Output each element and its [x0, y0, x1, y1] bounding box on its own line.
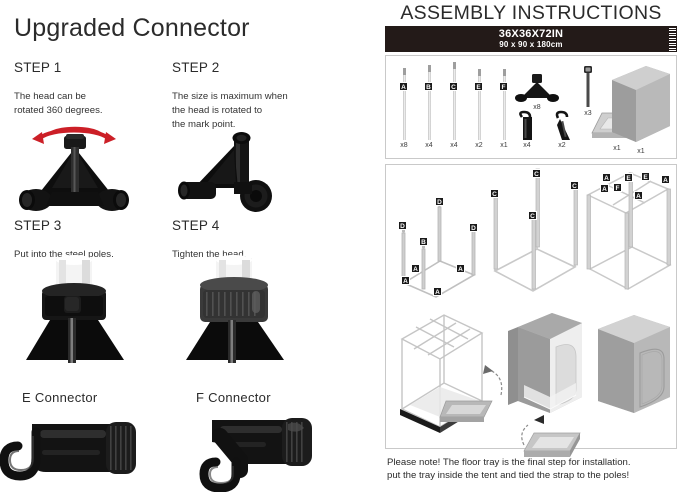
step-3-heading: STEP 3: [14, 218, 61, 233]
part-qty-a: x8: [395, 142, 413, 149]
step-1-description: The head can be rotated 360 degrees.: [14, 90, 164, 118]
part-qty-b: x4: [420, 142, 438, 149]
assembly-finished-tent: [594, 313, 674, 431]
left-panel: Upgraded Connector STEP 1 The head can b…: [0, 0, 370, 492]
part-badge-e: E: [474, 82, 483, 91]
pole-tightened-icon: [172, 258, 297, 363]
pole-inserted-icon: [12, 258, 137, 363]
size-imperial: 36X36X72IN: [499, 29, 563, 40]
frame-label-b: B: [419, 237, 428, 246]
tri-connector-front-icon: [12, 122, 137, 217]
part-tent-cover: x1: [610, 64, 672, 153]
frame-label-d3: D: [469, 223, 478, 232]
assembly-vertical-poles: C C C C: [489, 169, 581, 301]
e-connector-label: E Connector: [22, 390, 98, 405]
top-label-a1: A: [602, 173, 611, 182]
top-label-e1: E: [624, 173, 633, 182]
instruction-sheet: Upgraded Connector STEP 1 The head can b…: [0, 0, 679, 492]
f-connector-label: F Connector: [196, 390, 271, 405]
pole-label-c1: C: [490, 189, 499, 198]
step-4-heading: STEP 4: [172, 218, 219, 233]
pole-label-c4: C: [532, 169, 541, 178]
step-1-heading: STEP 1: [14, 60, 61, 75]
frame-label-a3: A: [456, 264, 465, 273]
part-corner-connector: x8: [516, 74, 558, 109]
frame-label-d1: D: [398, 221, 407, 230]
part-qty-hook-e: x4: [518, 142, 536, 149]
part-strap: x3: [580, 66, 598, 115]
part-qty-c: x4: [445, 142, 463, 149]
tri-connector-rotated-icon: [176, 130, 296, 216]
top-label-e2: E: [641, 172, 650, 181]
f-connector-hook-icon: [176, 416, 321, 492]
part-qty-e: x2: [470, 142, 488, 149]
part-qty-hook-f: x2: [553, 142, 571, 149]
part-badge-c: C: [449, 82, 458, 91]
assembly-cover-install: [506, 309, 590, 431]
top-label-a2: A: [661, 175, 670, 184]
size-metric: 90 x 90 x 180cm: [499, 40, 563, 50]
assembly-top-frame: A E E A A F A: [582, 169, 676, 301]
frame-label-a1: A: [411, 264, 420, 273]
barcode-icon: [669, 27, 676, 51]
step-2-heading: STEP 2: [172, 60, 219, 75]
step-2-description: The size is maximum when the head is rot…: [172, 90, 332, 132]
part-qty-f: x1: [495, 142, 513, 149]
top-label-a4: A: [634, 191, 643, 200]
part-badge-b: B: [424, 82, 433, 91]
part-qty-cover: x1: [632, 148, 650, 155]
page-title: Upgraded Connector: [14, 14, 250, 43]
assembly-base-frame: D D B D A A A A: [392, 171, 484, 301]
assembly-steps-box: D D B D A A A A: [385, 164, 677, 449]
pole-label-c2: C: [528, 211, 537, 220]
part-qty-corner: x8: [528, 104, 546, 111]
part-hook-f: x2: [554, 111, 574, 148]
parts-list-box: A x8 B x4 C x4 E x2: [385, 55, 677, 159]
assembly-title: ASSEMBLY INSTRUCTIONS: [383, 2, 679, 25]
top-label-a3: A: [600, 184, 609, 193]
part-badge-f: F: [499, 82, 508, 91]
part-badge-a: A: [399, 82, 408, 91]
frame-label-a2: A: [401, 276, 410, 285]
frame-label-d2: D: [435, 197, 444, 206]
frame-label-a4: A: [433, 287, 442, 296]
pole-label-c3: C: [570, 181, 579, 190]
installation-note: Please note! The floor tray is the final…: [387, 456, 679, 482]
right-panel: ASSEMBLY INSTRUCTIONS 36X36X72IN 90 x 90…: [383, 0, 679, 492]
top-label-f: F: [613, 183, 622, 192]
e-connector-hook-icon: [2, 418, 147, 488]
size-bar: 36X36X72IN 90 x 90 x 180cm: [385, 26, 677, 52]
part-hook-e: x4: [518, 111, 536, 148]
